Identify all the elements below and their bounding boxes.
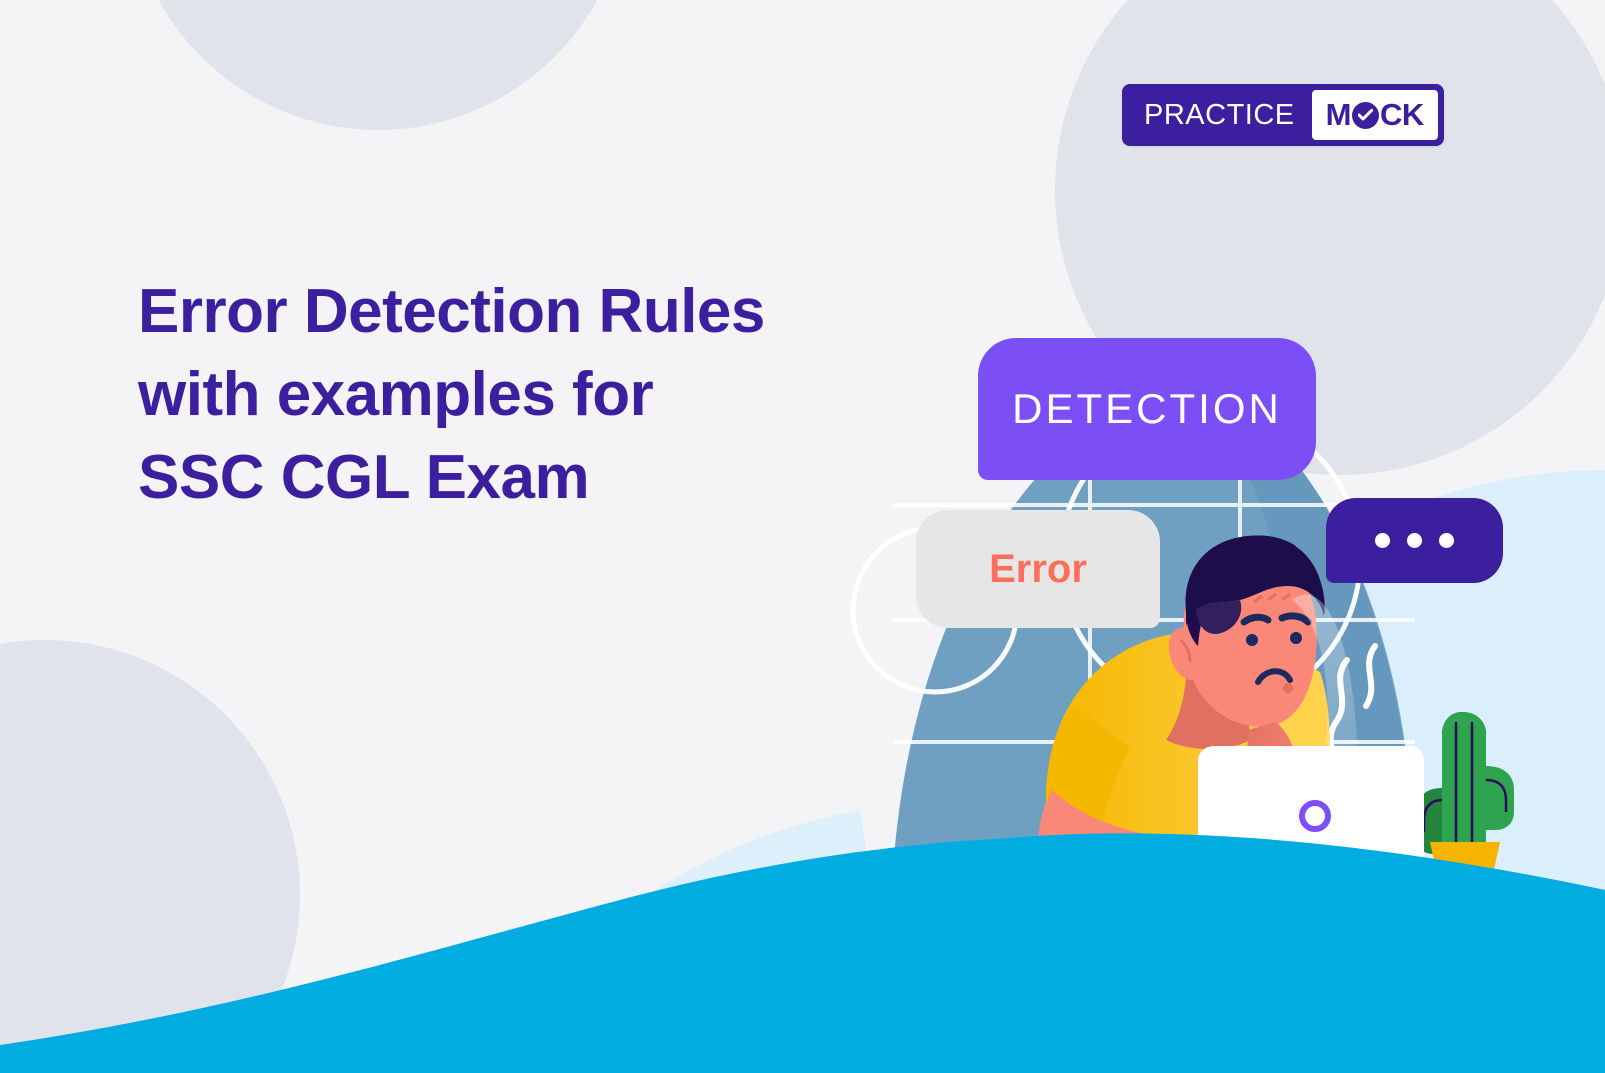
logo-mock-text: M CK — [1326, 97, 1424, 133]
page-title-line-3: SSC CGL Exam — [138, 436, 918, 519]
logo-mock-letters-ck: CK — [1380, 97, 1424, 133]
logo-practice-text: PRACTICE — [1122, 99, 1312, 132]
logo-mock-letter-m: M — [1326, 97, 1351, 133]
speech-bubble-detection: DETECTION — [978, 338, 1316, 480]
banner-canvas: DETECTION Error Error Detection Rules wi… — [0, 0, 1605, 1073]
speech-bubble-error-label: Error — [989, 547, 1087, 592]
check-circle-icon — [1352, 102, 1379, 129]
character-eye-right — [1290, 632, 1302, 644]
character-nose — [1283, 683, 1293, 693]
practicemock-logo[interactable]: PRACTICE M CK — [1122, 84, 1444, 146]
speech-bubble-error: Error — [916, 510, 1160, 628]
typing-dot-3 — [1439, 533, 1454, 548]
speech-bubble-typing — [1326, 498, 1503, 583]
speech-bubble-detection-label: DETECTION — [1012, 385, 1282, 433]
character-eye-left — [1246, 634, 1258, 646]
page-title: Error Detection Rules with examples for … — [138, 270, 918, 519]
logo-mock-plate: M CK — [1312, 90, 1438, 140]
typing-dot-1 — [1375, 533, 1390, 548]
page-title-line-2: with examples for — [138, 353, 918, 436]
typing-dot-2 — [1407, 533, 1422, 548]
page-title-line-1: Error Detection Rules — [138, 270, 918, 353]
